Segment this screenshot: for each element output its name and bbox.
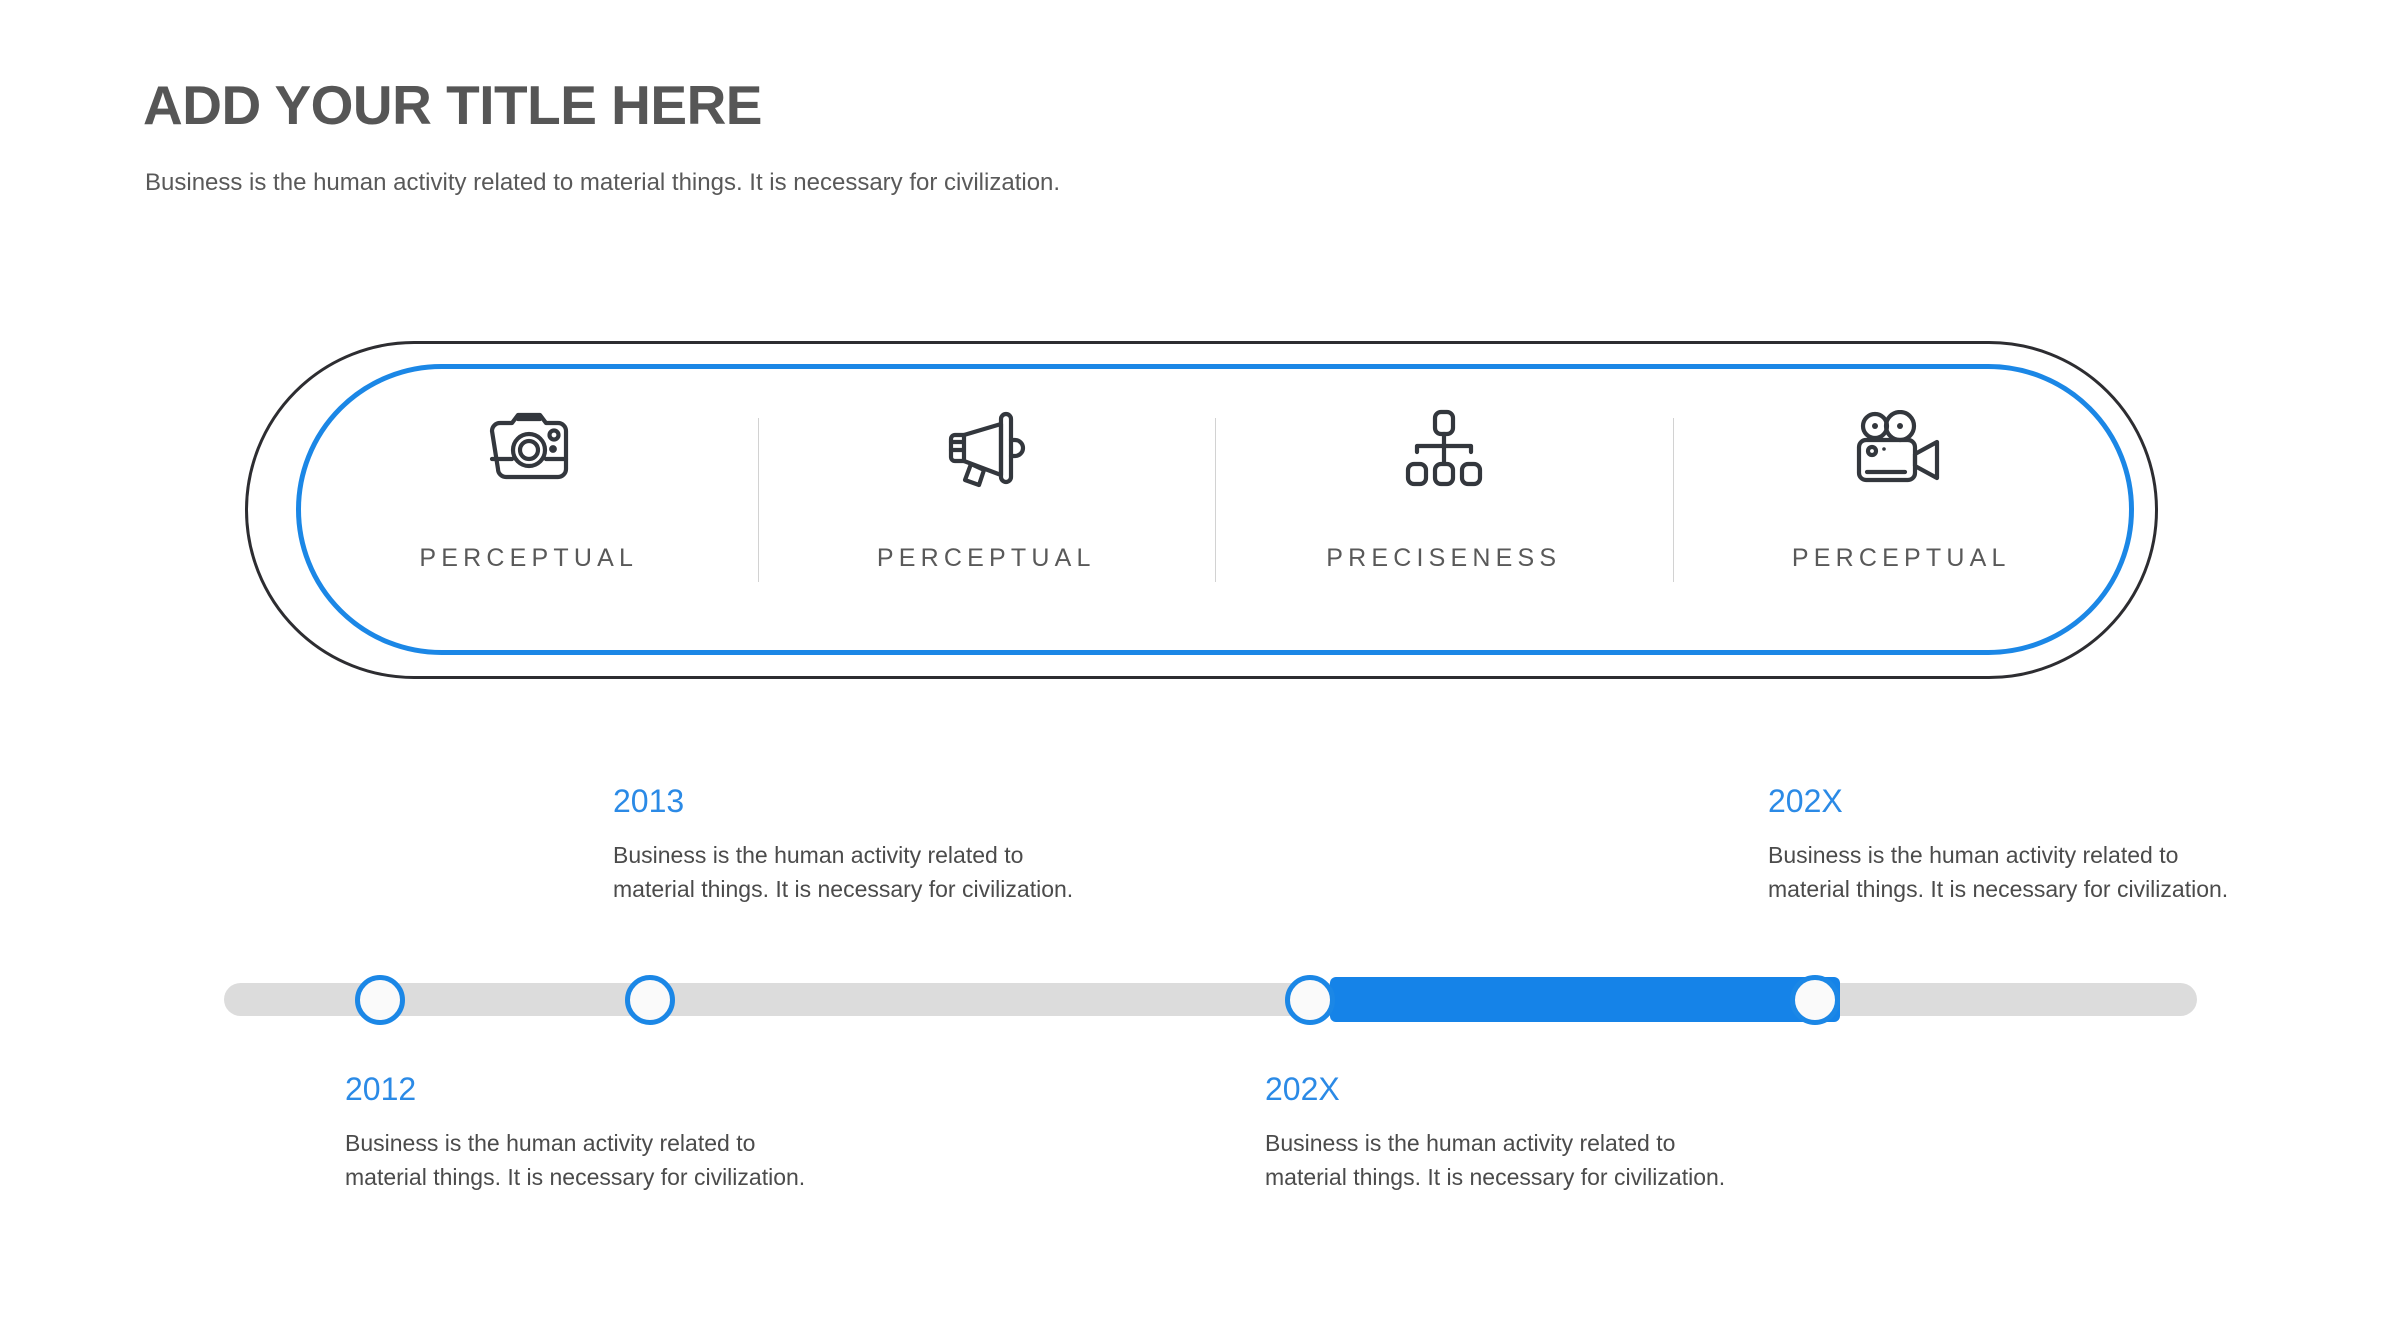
timeline: 2013 Business is the human activity rela… <box>0 0 2400 1344</box>
timeline-desc-2013-line2: material things. It is necessary for civ… <box>613 876 1073 902</box>
timeline-block-202x-lower: 202X Business is the human activity rela… <box>1265 1073 1825 1195</box>
timeline-block-202x-upper: 202X Business is the human activity rela… <box>1768 785 2328 907</box>
timeline-desc-202x-lower-line1: Business is the human activity related t… <box>1265 1130 1675 1156</box>
timeline-desc-2012-line2: material things. It is necessary for civ… <box>345 1164 805 1190</box>
timeline-year-2012: 2012 <box>345 1073 905 1105</box>
timeline-desc-202x-upper-line2: material things. It is necessary for civ… <box>1768 876 2228 902</box>
timeline-desc-2012: Business is the human activity related t… <box>345 1127 905 1195</box>
slide-canvas: ADD YOUR TITLE HERE Business is the huma… <box>0 0 2400 1344</box>
timeline-block-2012: 2012 Business is the human activity rela… <box>345 1073 905 1195</box>
timeline-track[interactable] <box>224 983 2197 1016</box>
timeline-desc-202x-lower: Business is the human activity related t… <box>1265 1127 1825 1195</box>
timeline-desc-2013: Business is the human activity related t… <box>613 839 1173 907</box>
timeline-desc-202x-upper-line1: Business is the human activity related t… <box>1768 842 2178 868</box>
timeline-year-2013: 2013 <box>613 785 1173 817</box>
timeline-desc-2012-line1: Business is the human activity related t… <box>345 1130 755 1156</box>
timeline-node-4[interactable] <box>1790 975 1840 1025</box>
timeline-year-202x-lower: 202X <box>1265 1073 1825 1105</box>
timeline-track-fill <box>1330 977 1840 1022</box>
timeline-block-2013: 2013 Business is the human activity rela… <box>613 785 1173 907</box>
timeline-desc-202x-lower-line2: material things. It is necessary for civ… <box>1265 1164 1725 1190</box>
timeline-desc-202x-upper: Business is the human activity related t… <box>1768 839 2328 907</box>
timeline-node-1[interactable] <box>355 975 405 1025</box>
timeline-desc-2013-line1: Business is the human activity related t… <box>613 842 1023 868</box>
timeline-node-3[interactable] <box>1285 975 1335 1025</box>
timeline-year-202x-upper: 202X <box>1768 785 2328 817</box>
timeline-node-2[interactable] <box>625 975 675 1025</box>
